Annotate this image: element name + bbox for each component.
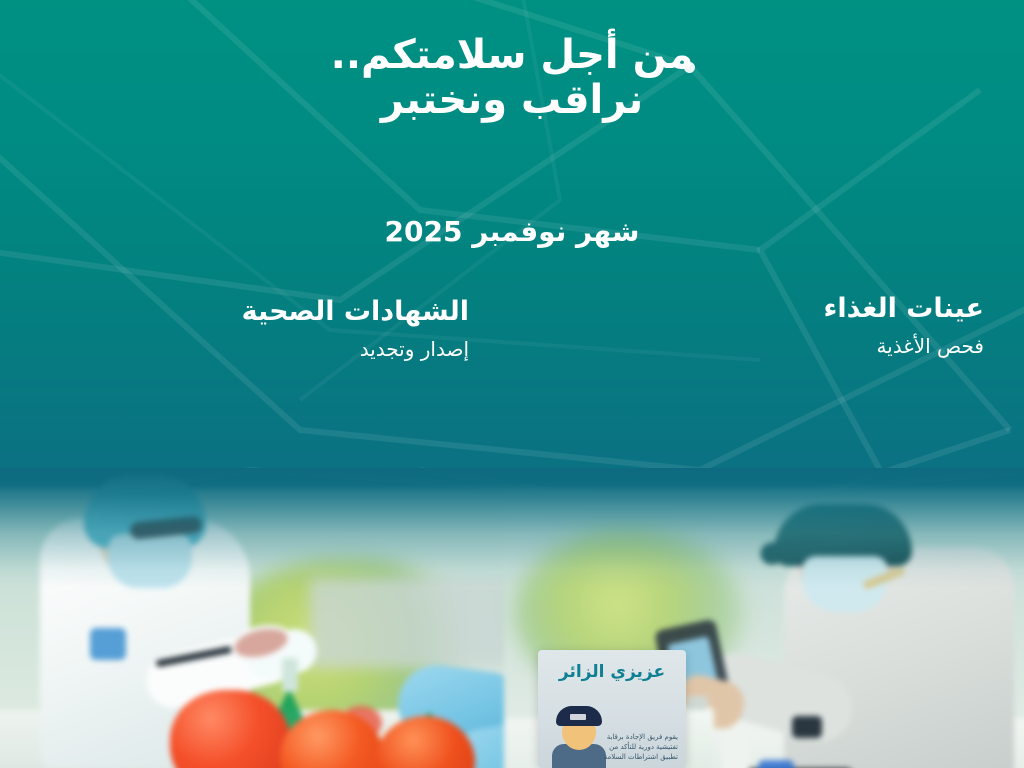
stat-food-samples-labels: عينات الغذاء فحص الأغذية: [769, 293, 984, 358]
page-title: من أجل سلامتكم.. نراقب ونختبر: [0, 34, 1024, 123]
photo-band: عزيزي الزائر يقوم فريق الإجادة برقابة تف…: [0, 468, 1024, 768]
stat-subtitle: إصدار وتجديد: [184, 337, 469, 361]
headline-line-2: نراقب ونختبر: [0, 78, 1024, 123]
stat-health-certificates-labels: الشهادات الصحية إصدار وتجديد: [184, 296, 469, 361]
stat-title: الشهادات الصحية: [184, 296, 469, 327]
visitor-sign-body: يقوم فريق الإجادة برقابة تفتيشية دورية ل…: [600, 732, 678, 762]
stat-title: عينات الغذاء: [769, 293, 984, 324]
photo-lab-technician: [0, 488, 520, 768]
photo-blur-layer: [0, 468, 1024, 768]
visitor-sign-title: عزيزي الزائر: [538, 662, 686, 682]
visitor-sign: عزيزي الزائر يقوم فريق الإجادة برقابة تف…: [538, 650, 686, 768]
infographic-poster: من أجل سلامتكم.. نراقب ونختبر شهر نوفمبر…: [0, 0, 1024, 768]
period-label: شهر نوفمبر 2025: [0, 215, 1024, 248]
stat-subtitle: فحص الأغذية: [769, 334, 984, 358]
headline-line-1: من أجل سلامتكم..: [0, 34, 1024, 76]
